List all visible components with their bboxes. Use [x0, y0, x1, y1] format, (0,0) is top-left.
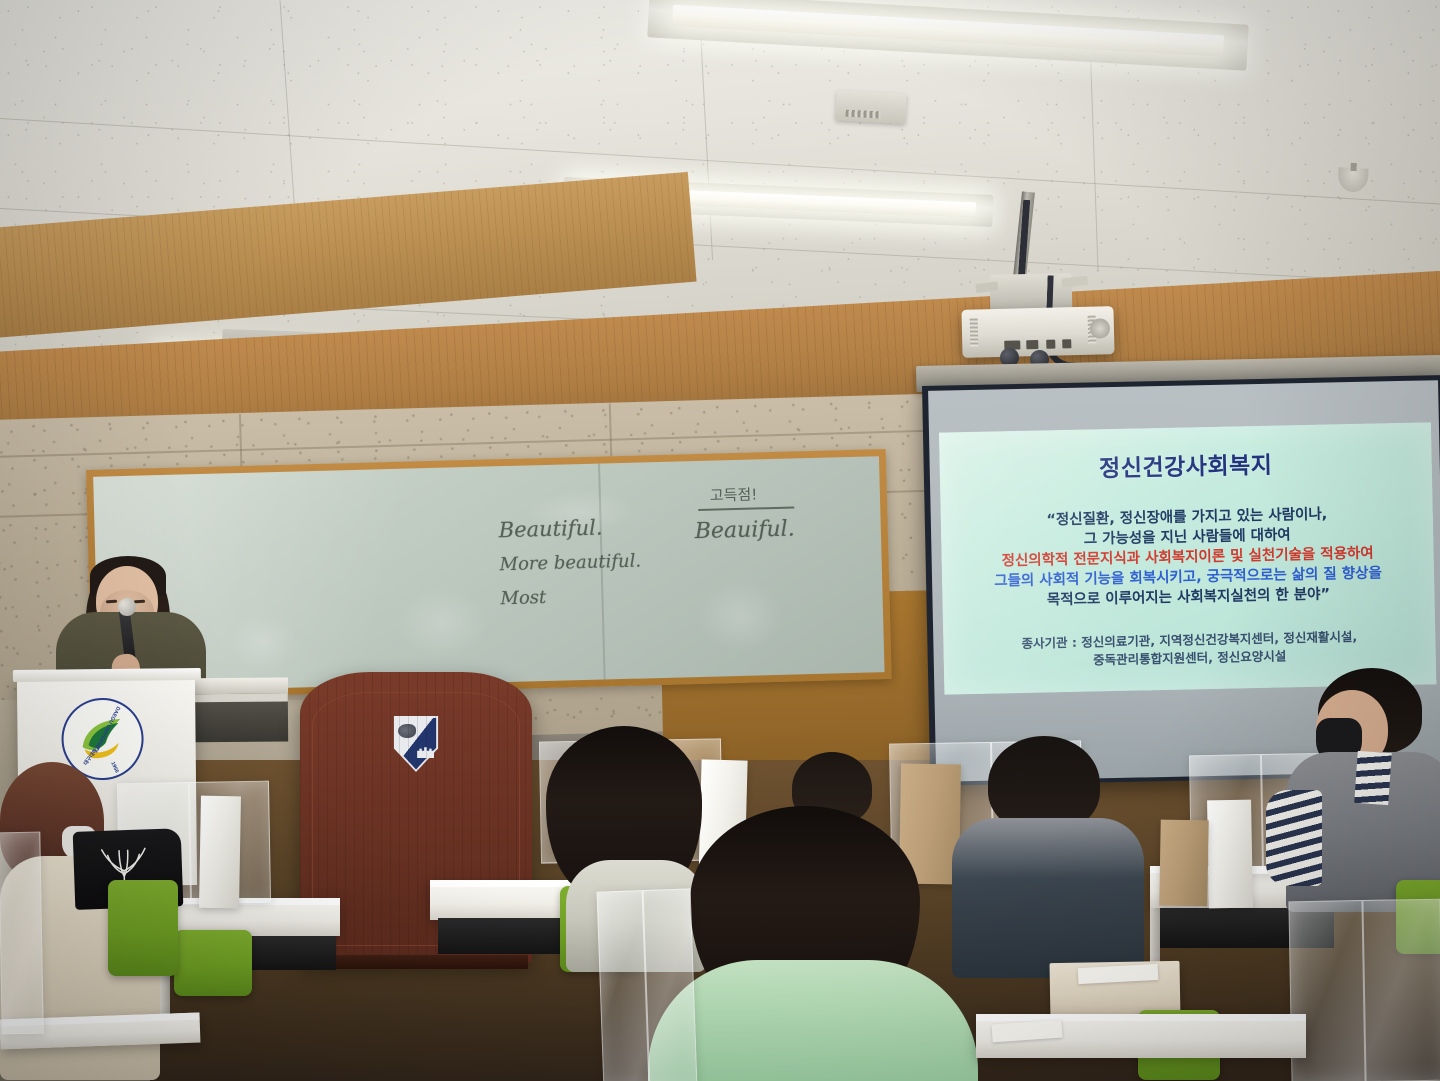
- slide-footer: 종사기관 : 정신의료기관, 지역정신건강복지센터, 정신재활시설, 중독관리통…: [943, 626, 1436, 671]
- whiteboard-heading-korean: 고득점!: [710, 483, 758, 505]
- attendee-torso: [952, 818, 1144, 978]
- podium-crest: [393, 716, 439, 772]
- student-torso: [648, 960, 978, 1081]
- lectern-top-edge: [13, 668, 201, 682]
- crest-animal-icon: [398, 724, 416, 738]
- presenter-eye: [134, 600, 145, 604]
- whiteboard-line-1: Beautiful.: [498, 516, 602, 543]
- podium-base: [304, 955, 528, 969]
- chair: [108, 880, 178, 976]
- crest-tower-icon: [417, 746, 434, 758]
- whiteboard-line-2: More beautiful.: [499, 551, 641, 576]
- slide-body: “정신질환, 정신장애를 가지고 있는 사람이나, 그 가능성을 지닌 사람들에…: [941, 502, 1435, 612]
- shopping-bag: [199, 796, 241, 909]
- attendee-striped-sleeve: [1266, 790, 1322, 886]
- whiteboard-surface: Beautiful. More beautiful. Most 고득점! Bea…: [93, 456, 884, 693]
- slide-title: 정신건강사회복지: [939, 442, 1432, 486]
- acrylic-divider: [1288, 899, 1440, 1081]
- shopping-bag: [1207, 800, 1253, 909]
- projector-lens-icon: [1090, 318, 1110, 338]
- shopping-bag: [1159, 820, 1208, 907]
- acrylic-divider: [597, 888, 698, 1081]
- presentation-slide: 정신건강사회복지 “정신질환, 정신장애를 가지고 있는 사람이나, 그 가능성…: [939, 422, 1436, 694]
- crest-diagonal: [395, 718, 437, 770]
- crest-shield-shape: [393, 716, 439, 772]
- whiteboard-line-3: Most: [500, 587, 546, 609]
- logo-ring-text: 대구대학교 DAEGU UNIVERSITY 1956: [63, 700, 142, 779]
- lecture-hall-photo: Beautiful. More beautiful. Most 고득점! Bea…: [0, 0, 1440, 1081]
- presenter-eye: [106, 600, 117, 604]
- acrylic-divider: [0, 832, 44, 1035]
- whiteboard-underline: [698, 506, 794, 511]
- attendee-collar-stripe: [1354, 751, 1392, 805]
- whiteboard-right-word: Beauiful.: [694, 516, 794, 544]
- ceiling-speaker-box: [835, 90, 906, 124]
- whiteboard: Beautiful. More beautiful. Most 고득점! Bea…: [86, 449, 892, 700]
- projector-vent: [970, 318, 979, 346]
- chair: [174, 930, 252, 996]
